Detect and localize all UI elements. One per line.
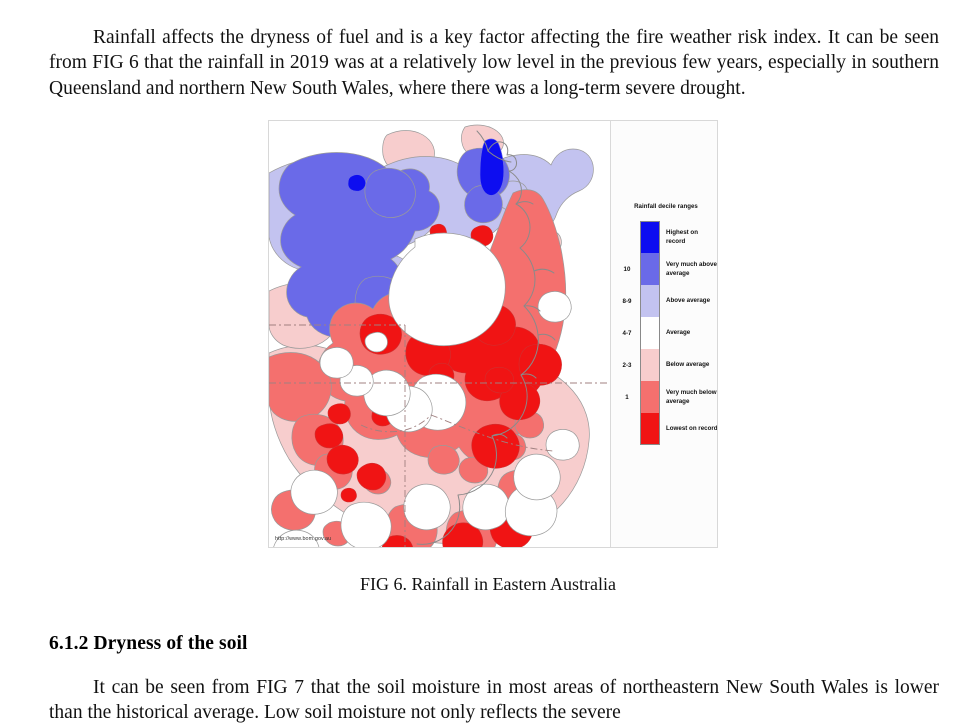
figure-rainfall-map: http://www.bom.gov.au Rainfall decile ra… <box>268 120 718 548</box>
paragraph-soil-moisture: It can be seen from FIG 7 that the soil … <box>49 675 939 726</box>
paragraph-text: Rainfall affects the dryness of fuel and… <box>49 27 939 99</box>
paragraph-text: It can be seen from FIG 7 that the soil … <box>49 677 939 724</box>
legend-color-swatch <box>640 317 660 349</box>
legend-label: Average <box>660 328 718 337</box>
legend-decile-value: 1 <box>614 394 640 401</box>
map-legend: Rainfall decile ranges Highest on record… <box>614 121 718 547</box>
map-panel: http://www.bom.gov.au <box>269 121 610 547</box>
legend-decile-value: 2-3 <box>614 362 640 369</box>
legend-color-swatch <box>640 221 660 253</box>
legend-color-swatch <box>640 413 660 445</box>
legend-label: Very much above average <box>660 260 718 279</box>
legend-row: 4-7Average <box>614 317 718 349</box>
legend-color-swatch <box>640 349 660 381</box>
legend-row: 2-3Below average <box>614 349 718 381</box>
source-url-label: http://www.bom.gov.au <box>275 536 331 542</box>
legend-label: Highest on record <box>660 228 718 247</box>
legend-decile-value: 10 <box>614 266 640 273</box>
legend-color-swatch <box>640 253 660 285</box>
legend-row: Lowest on record <box>614 413 718 445</box>
legend-color-swatch <box>640 381 660 413</box>
legend-decile-value: 4-7 <box>614 330 640 337</box>
legend-rows: Highest on record10Very much above avera… <box>614 221 718 445</box>
section-heading-dryness-of-the-soil: 6.1.2 Dryness of the soil <box>49 633 248 655</box>
legend-label: Lowest on record <box>660 424 718 433</box>
legend-row: 8-9Above average <box>614 285 718 317</box>
figure-panel-divider <box>610 121 611 547</box>
legend-label: Very much below average <box>660 388 718 407</box>
legend-row: 1Very much below average <box>614 381 718 413</box>
legend-row: 10Very much above average <box>614 253 718 285</box>
legend-row: Highest on record <box>614 221 718 253</box>
legend-color-swatch <box>640 285 660 317</box>
legend-label: Above average <box>660 296 718 305</box>
document-page: Rainfall affects the dryness of fuel and… <box>0 0 976 728</box>
eastern-australia-rainfall-decile-map <box>269 121 610 547</box>
legend-decile-value: 8-9 <box>614 298 640 305</box>
legend-title: Rainfall decile ranges <box>614 203 718 210</box>
paragraph-rainfall-intro: Rainfall affects the dryness of fuel and… <box>49 25 939 102</box>
figure-caption: FIG 6. Rainfall in Eastern Australia <box>0 574 976 595</box>
legend-label: Below average <box>660 360 718 369</box>
